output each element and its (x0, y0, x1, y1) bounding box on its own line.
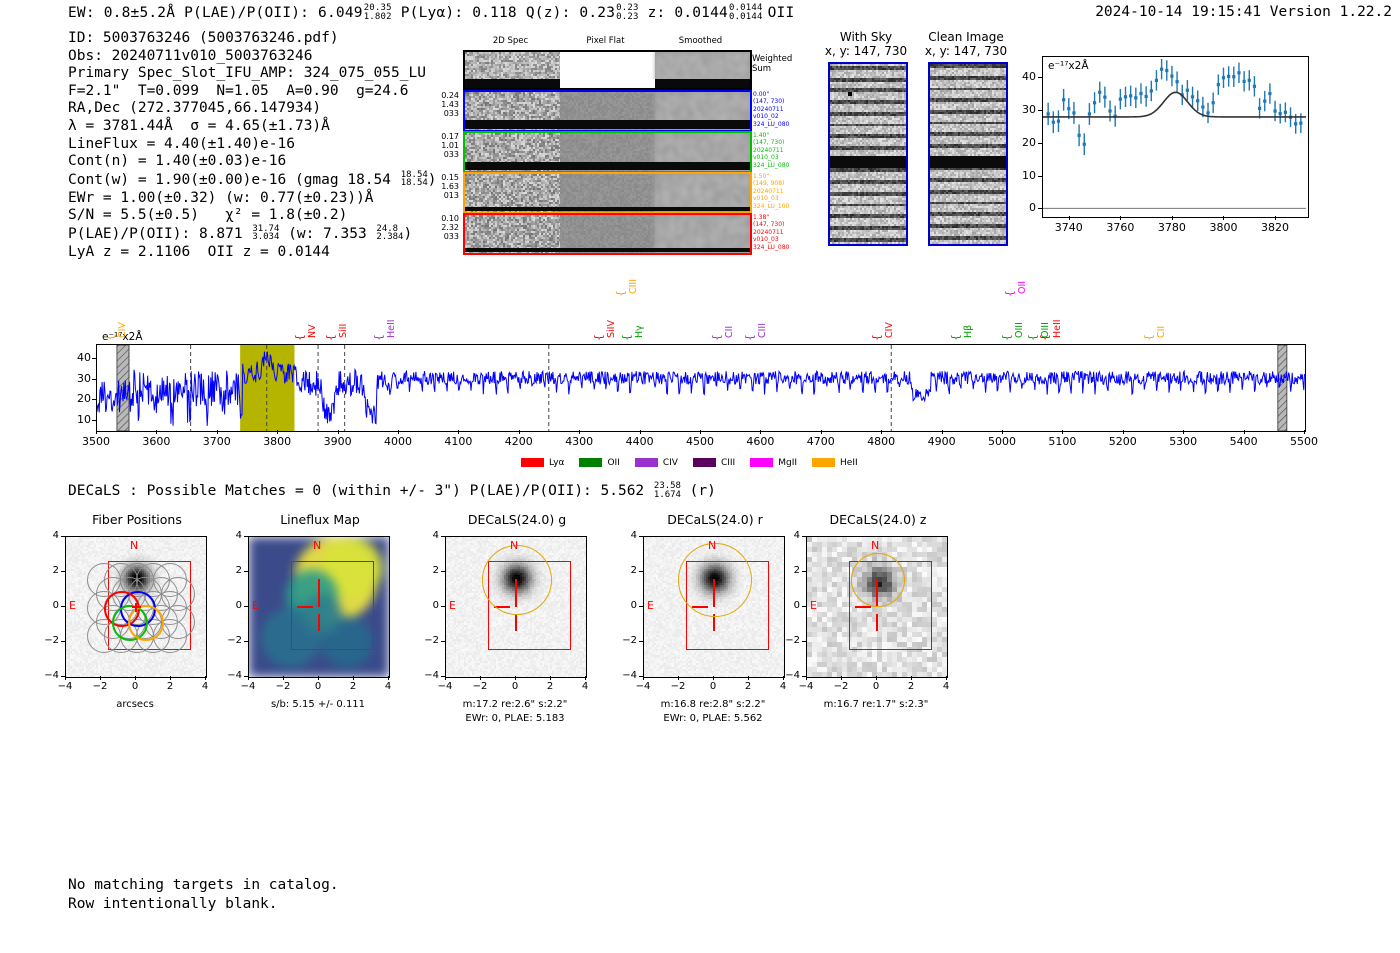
emission-line-bracket: } (104, 334, 117, 341)
emission-line-bracket: } (593, 334, 606, 341)
legend-item-CIV: CIV (635, 458, 678, 468)
cutout-xtick-mark (550, 676, 551, 680)
emission-line-label-CIII: CIII (757, 298, 768, 338)
cutout-xtick-mark (283, 676, 284, 680)
xtick-mark (1062, 430, 1063, 434)
cutout-xtick-mark (876, 676, 877, 680)
fiber-row-left-value: 033 (429, 109, 459, 118)
fiber-row-right-value: (147, 730) (753, 98, 811, 105)
compass-north-1: N (313, 539, 321, 552)
fiber-row-left-value: 1.43 (429, 100, 459, 109)
cutout-ytick-mark (802, 571, 806, 572)
info-line-fwhm: F=2.1" T=0.099 N=1.05 A=0.90 g=24.6 (68, 83, 437, 101)
cutout-ytick-mark (802, 606, 806, 607)
summary-line: EW: 0.8±5.2Å P(LAE)/P(OII): 6.04920.351.… (68, 4, 794, 21)
fiber-trace-1 (465, 162, 750, 170)
xtick-mark (1069, 216, 1070, 220)
compass-north-3: N (708, 539, 716, 552)
crosshair-h-4 (855, 606, 872, 608)
fiber-trace-0 (465, 120, 750, 129)
fiber-row-right-value: 20240711 (753, 106, 811, 113)
xtick-mark (96, 430, 97, 434)
cutout-xtick-0: 2 (155, 681, 185, 692)
legend-swatch (750, 458, 773, 467)
emission-line-label-OIII: OIII (1040, 298, 1051, 338)
full-spectrum-xtick: 4100 (433, 435, 483, 448)
xtick-mark (1223, 216, 1224, 220)
compass-east-4: E (810, 599, 817, 612)
xtick-mark (640, 430, 641, 434)
info-line-plae: P(LAE)/P(OII): 8.871 31.743.034 (w: 7.35… (68, 225, 437, 244)
xtick-mark (1304, 430, 1305, 434)
z-suffix: OII (763, 5, 795, 21)
timestamp-version: 2024-10-14 19:15:41 Version 1.22.2 (1095, 4, 1392, 20)
cutout-xtick-mark (643, 676, 644, 680)
fiber-row-right-value: 0.00" (753, 91, 811, 98)
cutout-ytick-3: 4 (617, 530, 637, 541)
cutout-xtick-1: 2 (338, 681, 368, 692)
cutout-image-3: NE (643, 536, 785, 678)
cutout-xtick-mark (135, 676, 136, 680)
cutout-ytick-1: −2 (222, 635, 242, 646)
fiber-row-left-labels-1: 0.171.01033 (429, 132, 459, 160)
xtick-mark (579, 430, 580, 434)
full-spectrum-xtick: 4500 (675, 435, 725, 448)
ytick-mark (92, 420, 96, 421)
fiber-row-right-value: 1.50" (753, 173, 811, 180)
cutout-xtick-0: −2 (85, 681, 115, 692)
cutout-ytick-mark (441, 606, 445, 607)
xtick-mark (217, 430, 218, 434)
fiber-row-left-labels-0: 0.241.43033 (429, 91, 459, 119)
emission-line-bracket: } (294, 334, 307, 341)
plya-label: P(Lyα): 0.118 (392, 5, 517, 21)
cutout-xtick-2: 0 (500, 681, 530, 692)
xtick-mark (519, 430, 520, 434)
crosshair-h-1 (297, 606, 314, 608)
cutout-red-box-1 (291, 561, 374, 650)
fiber-row-right-labels-1: 1.40"(147, 730)20240711v010_03324_LU_080 (753, 132, 811, 169)
full-spectrum-ytick: 30 (64, 372, 91, 385)
legend-item-CIII: CIII (693, 458, 735, 468)
ytick-mark (92, 358, 96, 359)
emission-line-label-CIII: CIII (628, 254, 639, 294)
xtick-mark (1002, 430, 1003, 434)
fiber-row-1 (463, 131, 752, 173)
cutout-ytick-mark (441, 641, 445, 642)
ytick-mark (1038, 208, 1042, 209)
legend-swatch (812, 458, 835, 467)
emission-line-label-OII: OII (1017, 254, 1028, 294)
cutout-xtick-mark (318, 676, 319, 680)
cutout-ytick-3: −4 (617, 670, 637, 681)
line-profile-xtick: 3760 (1098, 221, 1142, 234)
cutout-caption2-2: EWr: 0, PLAE: 5.183 (407, 712, 623, 725)
ytick-mark (92, 379, 96, 380)
legend-label: Lyα (549, 458, 564, 468)
line-profile-ytick: 30 (1008, 103, 1036, 116)
cutout-ytick-mark (244, 641, 248, 642)
full-spectrum-xtick: 5500 (1279, 435, 1329, 448)
xtick-mark (1123, 430, 1124, 434)
fiber-row-left-value: 1.01 (429, 141, 459, 150)
cutout-xtick-1: −2 (268, 681, 298, 692)
cutout-xtick-mark (100, 676, 101, 680)
cutout-ytick-mark (244, 536, 248, 537)
xtick-mark (700, 430, 701, 434)
spec2d-column-title-2: Smoothed (656, 36, 746, 46)
info-line-radec: RA,Dec (272.377045,66.147934) (68, 100, 437, 118)
cutout-ytick-mark (61, 676, 65, 677)
cutout-ytick-mark (639, 536, 643, 537)
xtick-mark (821, 430, 822, 434)
cutout-xtick-mark (678, 676, 679, 680)
emission-line-label-SiIV: SiIV (606, 298, 617, 338)
cutout-ytick-mark (61, 641, 65, 642)
full-spectrum-xtick: 5400 (1219, 435, 1269, 448)
full-spectrum-xtick: 3800 (252, 435, 302, 448)
cutout-ytick-1: 4 (222, 530, 242, 541)
full-spectrum-xtick: 4400 (615, 435, 665, 448)
emission-line-bracket: } (1001, 334, 1014, 341)
fiber-row-right-value: (147, 730) (753, 139, 811, 146)
info-line-primary: Primary Spec_Slot_IFU_AMP: 324_075_055_L… (68, 65, 437, 83)
cutout-xtick-mark (841, 676, 842, 680)
cutout-xtick-4: 4 (931, 681, 961, 692)
fiber-row-right-value: 324_LU_100 (753, 203, 811, 210)
ytick-mark (1038, 77, 1042, 78)
cutout-ytick-4: 4 (780, 530, 800, 541)
qz-bounds: 0.230.23 (616, 4, 638, 21)
fiber-row-right-labels-0: 0.00"(147, 730)20240711v010_02324_LU_080 (753, 91, 811, 128)
emission-line-label-CIV: CIV (884, 298, 895, 338)
cutout-title-2: DECaLS(24.0) g (417, 512, 617, 527)
fiber-row-left-value: 0.15 (429, 173, 459, 182)
weighted-sum-strip (463, 50, 752, 90)
emission-line-label-OIII: OIII (1014, 298, 1025, 338)
fiber-row-right-value: v010_03 (753, 154, 811, 161)
emission-line-bracket: } (373, 334, 386, 341)
fiber-row-left-value: 0.24 (429, 91, 459, 100)
emission-line-bracket: } (1143, 334, 1156, 341)
cutout-caption-4: m:16.7 re:1.7" s:2.3" (768, 698, 984, 711)
cutout-ytick-1: 0 (222, 600, 242, 611)
cutout-xtick-3: 2 (733, 681, 763, 692)
emission-line-label-CIV: CIV (117, 298, 128, 338)
cutout-xtick-4: −4 (791, 681, 821, 692)
cutout-ytick-4: −2 (780, 635, 800, 646)
cutout-xtick-2: 2 (535, 681, 565, 692)
emission-line-bracket: } (615, 290, 628, 297)
cutout-ytick-mark (244, 676, 248, 677)
footer-notes: No matching targets in catalog. Row inte… (68, 876, 339, 914)
emission-line-bracket: } (711, 334, 724, 341)
fiber-row-right-value: v010_02 (753, 113, 811, 120)
legend-item-OII: OII (579, 458, 619, 468)
emission-line-label-HeII: HeII (386, 298, 397, 338)
xtick-mark (398, 430, 399, 434)
legend-item-MgII: MgII (750, 458, 797, 468)
ytick-mark (1038, 143, 1042, 144)
sky-panel-image-0 (828, 62, 908, 246)
emission-line-bracket: } (1039, 334, 1052, 341)
full-spectrum-xtick: 5100 (1037, 435, 1087, 448)
cutout-xtick-4: −2 (826, 681, 856, 692)
cutout-ytick-2: 2 (419, 565, 439, 576)
fiber-row-left-value: 033 (429, 150, 459, 159)
cutout-ytick-mark (802, 676, 806, 677)
cutout-xtick-3: −4 (628, 681, 658, 692)
cutout-caption-2: m:17.2 re:2.6" s:2.2" (407, 698, 623, 711)
fiber-row-left-labels-2: 0.151.63013 (429, 173, 459, 201)
fiber-row-right-value: 1.40" (753, 132, 811, 139)
weighted-sum-label: WeightedSum (752, 54, 792, 74)
spec2d-column-title-0: 2D Spec (466, 36, 556, 46)
emission-line-label-CII: CII (1156, 298, 1167, 338)
emission-line-label-Hγ: Hγ (634, 298, 645, 338)
cutout-xtick-mark (445, 676, 446, 680)
full-spectrum-xtick: 4200 (494, 435, 544, 448)
sky-panel-subtitle-0: x, y: 147, 730 (810, 44, 922, 58)
legend-item-HeII: HeII (812, 458, 858, 468)
info-line-lineflux: LineFlux = 4.40(±1.40)e-16 (68, 136, 437, 154)
cutout-ytick-2: −2 (419, 635, 439, 646)
emission-line-bracket: } (744, 334, 757, 341)
cutout-xtick-mark (480, 676, 481, 680)
sky-panel-dot (848, 92, 852, 96)
line-profile-xtick: 3740 (1047, 221, 1091, 234)
cutout-xtick-2: −2 (465, 681, 495, 692)
cutout-xtick-3: 0 (698, 681, 728, 692)
xtick-mark (1120, 216, 1121, 220)
fiber-row-left-value: 2.32 (429, 223, 459, 232)
line-profile-xtick: 3780 (1150, 221, 1194, 234)
line-profile-unit-label: e⁻¹⁷x2Å (1048, 60, 1089, 72)
cutout-image-1: NE (248, 536, 390, 678)
object-info-block: ID: 5003763246 (5003763246.pdf) Obs: 202… (68, 30, 437, 261)
info-line-lambda: λ = 3781.44Å σ = 4.65(±1.73)Å (68, 118, 437, 136)
fiber-row-left-value: 0.17 (429, 132, 459, 141)
weighted-sum-label-line: Weighted (752, 54, 792, 64)
source-ellipse-2 (482, 545, 552, 615)
cutout-xtick-mark (353, 676, 354, 680)
cutout-xtick-4: 0 (861, 681, 891, 692)
decals-header: DECaLS : Possible Matches = 0 (within +/… (68, 482, 716, 499)
emission-line-bracket: } (1004, 290, 1017, 297)
xtick-mark (760, 430, 761, 434)
cutout-xtick-mark (388, 676, 389, 680)
cutout-ytick-3: 0 (617, 600, 637, 611)
full-spectrum-xtick: 4700 (796, 435, 846, 448)
xtick-mark (881, 430, 882, 434)
cutout-title-1: Lineflux Map (220, 512, 420, 527)
fiber-row-right-value: 20240711 (753, 147, 811, 154)
cutout-xtick-mark (65, 676, 66, 680)
cutout-ytick-mark (441, 676, 445, 677)
full-spectrum-ytick: 40 (64, 351, 91, 364)
legend-label: MgII (778, 458, 797, 468)
compass-east-0: E (69, 599, 76, 612)
full-spectrum-xtick: 3900 (313, 435, 363, 448)
cutout-ytick-mark (61, 606, 65, 607)
fiber-row-right-value: 324_LU_080 (753, 162, 811, 169)
sky-panel-trace-1 (930, 156, 1006, 168)
cutout-xtick-0: −4 (50, 681, 80, 692)
crosshair-v-1 (318, 579, 320, 607)
cutout-title-4: DECaLS(24.0) z (778, 512, 978, 527)
source-ellipse-3 (678, 543, 752, 617)
emission-line-bracket: } (325, 334, 338, 341)
cutout-xtick-3: −2 (663, 681, 693, 692)
cutout-ytick-0: −2 (39, 635, 59, 646)
cutout-title-0: Fiber Positions (37, 512, 237, 527)
plae-bounds: 20.351.802 (364, 4, 392, 21)
cutout-ytick-0: 2 (39, 565, 59, 576)
plae-value: 6.049 (318, 5, 363, 21)
compass-east-3: E (647, 599, 654, 612)
cutout-ytick-mark (61, 571, 65, 572)
cutout-xtick-0: 0 (120, 681, 150, 692)
info-line-redshift: LyA z = 2.1106 OII z = 0.0144 (68, 244, 437, 262)
fiber-row-right-labels-2: 1.50"(149, 908)20240711v010_03324_LU_100 (753, 173, 811, 210)
cutout-ytick-mark (639, 606, 643, 607)
emission-line-label-Hβ: Hβ (963, 298, 974, 338)
ytick-mark (92, 399, 96, 400)
compass-east-1: E (252, 599, 259, 612)
cutout-xtick-mark (713, 676, 714, 680)
fiber-row-right-value: v010_03 (753, 195, 811, 202)
xtick-mark (458, 430, 459, 434)
fiber-row-right-value: 324_LU_080 (753, 121, 811, 128)
full-spectrum-xtick: 5200 (1098, 435, 1148, 448)
cutout-ytick-mark (244, 606, 248, 607)
cutout-xtick-mark (946, 676, 947, 680)
cutout-xtick-mark (748, 676, 749, 680)
cutout-caption-1: s/b: 5.15 +/- 0.111 (210, 698, 426, 711)
spectrum-legend: LyαOIICIVCIIIMgIIHeII (521, 452, 873, 471)
full-spectrum-xtick: 4800 (856, 435, 906, 448)
fiber-row-right-value: 20240711 (753, 188, 811, 195)
qz-label: Q(z): 0.23 (517, 5, 615, 21)
fiber-trace-2 (465, 207, 750, 211)
line-profile-ytick: 40 (1008, 70, 1036, 83)
legend-swatch (693, 458, 716, 467)
cutout-xtick-1: 0 (303, 681, 333, 692)
xtick-mark (338, 430, 339, 434)
center-cross-v (135, 603, 137, 612)
info-line-sn: S/N = 5.5(±0.5) χ² = 1.8(±0.2) (68, 207, 437, 225)
cutout-ytick-mark (61, 536, 65, 537)
cutout-xtick-mark (806, 676, 807, 680)
info-line-contw: Cont(w) = 1.90(±0.00)e-16 (gmag 18.54 18… (68, 171, 437, 190)
cutout-xtick-mark (515, 676, 516, 680)
legend-swatch (635, 458, 658, 467)
line-profile-xtick: 3820 (1253, 221, 1297, 234)
fiber-row-right-value: 1.38" (753, 214, 811, 221)
line-profile-ytick: 20 (1008, 136, 1036, 149)
cutout-ytick-mark (441, 571, 445, 572)
cutout-xtick-mark (585, 676, 586, 680)
emission-line-label-CII: CII (724, 298, 735, 338)
compass-north-0: N (130, 539, 138, 552)
full-spectrum-xtick: 4900 (917, 435, 967, 448)
cutout-ytick-mark (639, 571, 643, 572)
gmag-bounds: 18.5418.54 (401, 171, 428, 188)
emission-line-label-SiII: SiII (338, 298, 349, 338)
cutout-ytick-0: 0 (39, 600, 59, 611)
emission-line-bracket: } (950, 334, 963, 341)
fiber-row-right-value: 20240711 (753, 229, 811, 236)
emission-line-label-HeII: HeII (1052, 298, 1063, 338)
legend-swatch (521, 458, 544, 467)
crosshair-v2-2 (515, 614, 517, 631)
cutout-ytick-2: 0 (419, 600, 439, 611)
sky-panel-title-1: Clean Image (910, 30, 1022, 44)
xtick-mark (1244, 430, 1245, 434)
cutout-ytick-4: 0 (780, 600, 800, 611)
sky-panel-image-1 (928, 62, 1008, 246)
crosshair-v2-1 (318, 614, 320, 631)
cutout-ytick-0: −4 (39, 670, 59, 681)
full-spectrum-xtick: 3600 (131, 435, 181, 448)
summary-prefix: EW: 0.8±5.2Å P(LAE)/P(OII): (68, 5, 318, 21)
cutout-ytick-2: 4 (419, 530, 439, 541)
full-spectrum-xtick: 4300 (554, 435, 604, 448)
cutout-ytick-4: 2 (780, 565, 800, 576)
xtick-mark (1275, 216, 1276, 220)
fiber-row-left-labels-3: 0.102.32033 (429, 214, 459, 242)
plae2-bounds: 31.743.034 (252, 225, 279, 242)
weighted-sum-label-line: Sum (752, 64, 792, 74)
sky-panel-trace-0 (830, 156, 906, 168)
cutout-xtick-4: 2 (896, 681, 926, 692)
xtick-mark (277, 430, 278, 434)
crosshair-v2-4 (876, 614, 878, 631)
xtick-mark (1183, 430, 1184, 434)
line-profile-xtick: 3800 (1201, 221, 1245, 234)
cutout-image-4: NE (806, 536, 948, 678)
cutout-ytick-0: 4 (39, 530, 59, 541)
fiber-row-right-value: (147, 730) (753, 221, 811, 228)
cutout-ytick-mark (639, 641, 643, 642)
legend-label: HeII (840, 458, 858, 468)
decals-header-bounds: 23.581.674 (654, 482, 681, 499)
full-spectrum-ytick: 20 (64, 392, 91, 405)
cutout-ytick-1: −4 (222, 670, 242, 681)
info-line-ewr: EWr = 1.00(±0.32) (w: 0.77(±0.23))Å (68, 190, 437, 208)
cutout-xtick-2: −4 (430, 681, 460, 692)
full-spectrum-xtick: 4000 (373, 435, 423, 448)
fiber-row-2 (463, 172, 752, 214)
fiber-row-right-value: 324_LU_080 (753, 244, 811, 251)
full-spectrum-xtick: 5000 (977, 435, 1027, 448)
emission-line-bracket: } (621, 334, 634, 341)
cutout-ytick-mark (802, 536, 806, 537)
xtick-mark (942, 430, 943, 434)
cutout-ytick-mark (639, 676, 643, 677)
cutout-ytick-3: 2 (617, 565, 637, 576)
full-spectrum-xtick: 5300 (1158, 435, 1208, 448)
sky-panel-subtitle-1: x, y: 147, 730 (910, 44, 1022, 58)
cutout-xtick-mark (248, 676, 249, 680)
z-bounds: 0.01440.0144 (729, 4, 763, 21)
full-spectrum-xtick: 4600 (735, 435, 785, 448)
fiber-row-left-value: 013 (429, 191, 459, 200)
spec2d-column-title-1: Pixel Flat (561, 36, 651, 46)
legend-label: CIV (663, 458, 678, 468)
legend-swatch (579, 458, 602, 467)
cutout-xtick-0: 4 (190, 681, 220, 692)
